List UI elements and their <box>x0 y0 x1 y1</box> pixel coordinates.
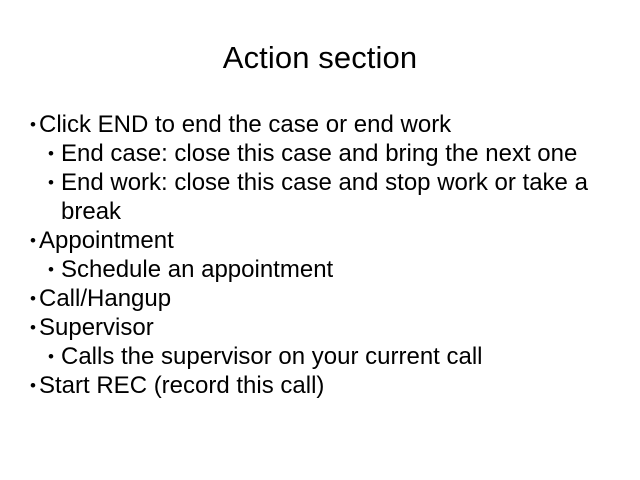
list-item: • Calls the supervisor on your current c… <box>48 342 630 371</box>
list-item-label: End work: close this case and stop work … <box>61 168 609 226</box>
list-item: • End work: close this case and stop wor… <box>48 168 630 226</box>
bullet-level1-icon: • <box>30 371 39 400</box>
list-item-label: Supervisor <box>39 313 599 342</box>
bullet-level1-icon: • <box>30 284 39 313</box>
list-item: • Click END to end the case or end work <box>30 110 630 139</box>
bullet-level2-icon: • <box>48 139 61 168</box>
list-item: • Call/Hangup <box>30 284 630 313</box>
page-title: Action section <box>0 40 640 76</box>
bullet-level1-icon: • <box>30 226 39 255</box>
list-item-label: Calls the supervisor on your current cal… <box>61 342 609 371</box>
list-item: • End case: close this case and bring th… <box>48 139 630 168</box>
slide-body: • Click END to end the case or end work … <box>30 110 630 400</box>
list-item-label: Schedule an appointment <box>61 255 609 284</box>
list-item: • Start REC (record this call) <box>30 371 630 400</box>
list-item: • Supervisor <box>30 313 630 342</box>
list-item-label: Appointment <box>39 226 599 255</box>
list-item-label: Start REC (record this call) <box>39 371 599 400</box>
list-item: • Schedule an appointment <box>48 255 630 284</box>
bullet-level2-icon: • <box>48 342 61 371</box>
bullet-level2-icon: • <box>48 255 61 284</box>
bullet-level1-icon: • <box>30 313 39 342</box>
slide-canvas: Action section • Click END to end the ca… <box>0 0 640 480</box>
list-item-label: Click END to end the case or end work <box>39 110 599 139</box>
bullet-level1-icon: • <box>30 110 39 139</box>
bullet-level2-icon: • <box>48 168 61 197</box>
list-item: • Appointment <box>30 226 630 255</box>
list-item-label: Call/Hangup <box>39 284 599 313</box>
list-item-label: End case: close this case and bring the … <box>61 139 609 168</box>
